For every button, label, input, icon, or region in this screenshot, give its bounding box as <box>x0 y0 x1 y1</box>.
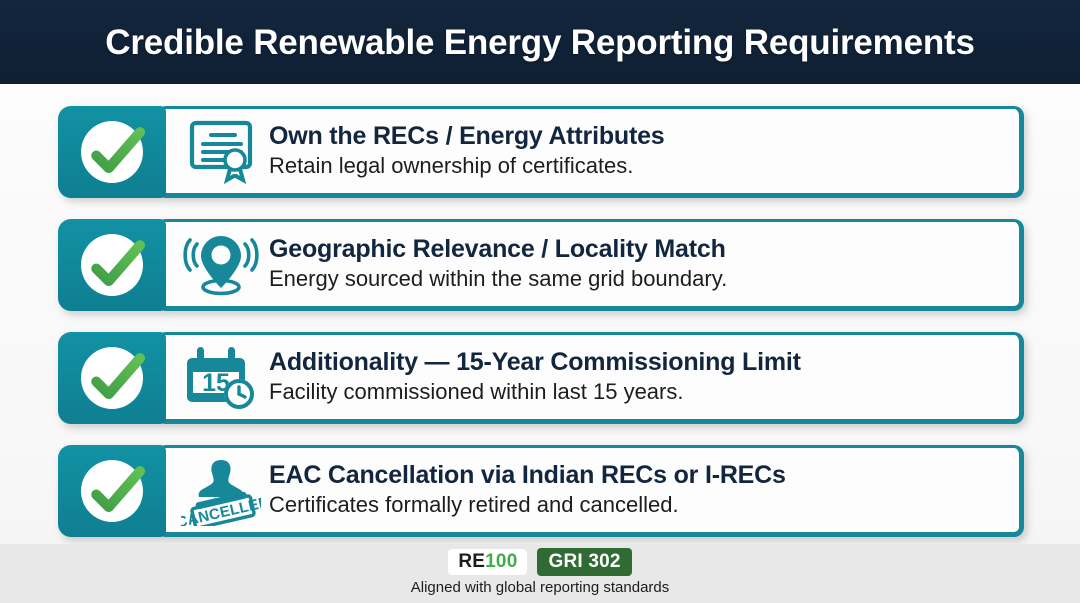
check-mark-icon <box>76 454 154 532</box>
check-badge <box>58 219 166 311</box>
infographic-poster: Credible Renewable Energy Reporting Requ… <box>0 0 1080 603</box>
calendar-clock-icon: 15 <box>173 338 269 416</box>
card-heading: EAC Cancellation via Indian RECs or I-RE… <box>269 462 1001 490</box>
check-badge <box>58 106 166 198</box>
check-mark-icon <box>76 341 154 419</box>
card-heading: Geographic Relevance / Locality Match <box>269 236 1001 264</box>
requirements-list: Own the RECs / Energy Attributes Retain … <box>0 84 1080 544</box>
list-item: Own the RECs / Energy Attributes Retain … <box>58 106 1024 198</box>
card-subtext: Facility commissioned within last 15 yea… <box>269 379 1001 405</box>
card-text: EAC Cancellation via Indian RECs or I-RE… <box>269 462 1019 519</box>
card-text: Own the RECs / Energy Attributes Retain … <box>269 123 1019 180</box>
footer: RE100 GRI 302 Aligned with global report… <box>0 544 1080 603</box>
re100-logo: RE100 <box>448 549 527 575</box>
standards-badges: RE100 GRI 302 <box>448 548 631 576</box>
card-heading: Additionality — 15-Year Commissioning Li… <box>269 349 1001 377</box>
location-pin-signal-icon <box>173 225 269 303</box>
check-badge <box>58 445 166 537</box>
re100-logo-prefix: RE <box>458 551 485 572</box>
card-body: CANCELLED EAC Cancellation via Indian RE… <box>156 445 1024 537</box>
list-item: 15 Additionality — 15-Year Commissioning… <box>58 332 1024 424</box>
cancelled-stamp-icon: CANCELLED <box>173 451 269 529</box>
check-badge <box>58 332 166 424</box>
check-mark-icon <box>76 228 154 306</box>
card-heading: Own the RECs / Energy Attributes <box>269 123 1001 151</box>
page-title: Credible Renewable Energy Reporting Requ… <box>105 25 975 60</box>
card-text: Geographic Relevance / Locality Match En… <box>269 236 1019 293</box>
gri-302-badge: GRI 302 <box>537 548 631 576</box>
card-text: Additionality — 15-Year Commissioning Li… <box>269 349 1019 406</box>
certificate-icon <box>173 112 269 190</box>
card-subtext: Retain legal ownership of certificates. <box>269 153 1001 179</box>
card-subtext: Certificates formally retired and cancel… <box>269 492 1001 518</box>
footer-note: Aligned with global reporting standards <box>411 580 670 595</box>
card-body: Geographic Relevance / Locality Match En… <box>156 219 1024 311</box>
list-item: Geographic Relevance / Locality Match En… <box>58 219 1024 311</box>
card-subtext: Energy sourced within the same grid boun… <box>269 266 1001 292</box>
check-mark-icon <box>76 115 154 193</box>
list-item: CANCELLED EAC Cancellation via Indian RE… <box>58 445 1024 537</box>
card-body: Own the RECs / Energy Attributes Retain … <box>156 106 1024 198</box>
card-body: 15 Additionality — 15-Year Commissioning… <box>156 332 1024 424</box>
re100-logo-suffix: 100 <box>485 551 517 572</box>
header-bar: Credible Renewable Energy Reporting Requ… <box>0 0 1080 84</box>
